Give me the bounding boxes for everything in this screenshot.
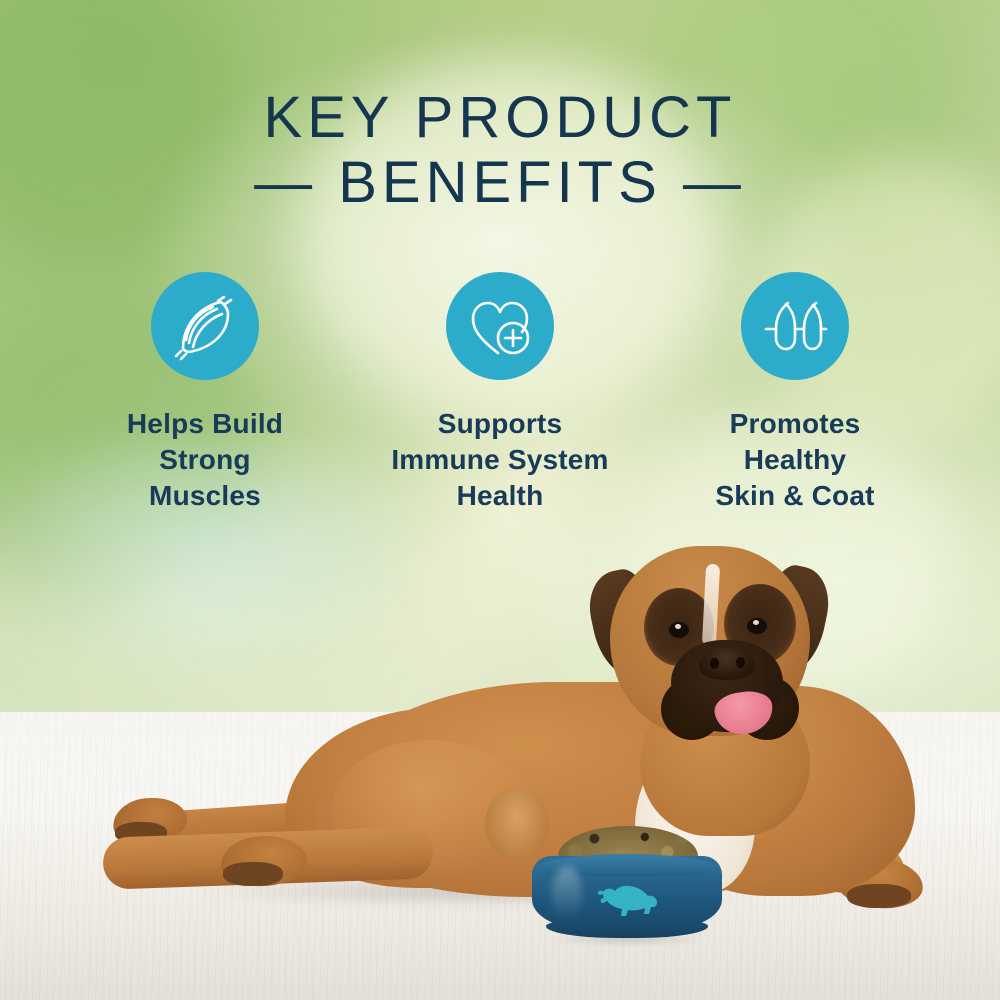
dog-nostril-right bbox=[736, 657, 745, 668]
bowl-highlight bbox=[552, 866, 582, 922]
benefit-label: Supports Immune System Health bbox=[355, 406, 645, 513]
benefits-row: Helps Build Strong Muscles Supports Immu… bbox=[60, 272, 940, 513]
boxer-dog-photo bbox=[95, 536, 925, 936]
dog-toes-near bbox=[223, 862, 283, 886]
heart-plus-icon bbox=[446, 272, 554, 380]
dog-eye-glint-left bbox=[675, 624, 681, 629]
dog-food-bowl bbox=[532, 826, 722, 942]
benefit-label: Helps Build Strong Muscles bbox=[60, 406, 350, 513]
promo-image-canvas: KEY PRODUCT — BENEFITS — Helps Build bbox=[0, 0, 1000, 1000]
dog-nostril-left bbox=[710, 658, 719, 669]
benefit-item-muscle: Helps Build Strong Muscles bbox=[60, 272, 350, 513]
benefit-item-immune: Supports Immune System Health bbox=[355, 272, 645, 513]
dog-nose bbox=[699, 648, 755, 680]
benefit-item-skin-coat: Promotes Healthy Skin & Coat bbox=[650, 272, 940, 513]
muscle-fiber-icon bbox=[151, 272, 259, 380]
title-line-1: KEY PRODUCT bbox=[0, 88, 1000, 147]
buffalo-logo bbox=[594, 878, 664, 918]
page-title: KEY PRODUCT — BENEFITS — bbox=[0, 88, 1000, 212]
dog-toes-right bbox=[847, 884, 911, 908]
dog-eye-glint-right bbox=[753, 620, 759, 625]
hair-follicle-icon bbox=[741, 272, 849, 380]
benefit-label: Promotes Healthy Skin & Coat bbox=[650, 406, 940, 513]
title-line-2: — BENEFITS — bbox=[0, 153, 1000, 212]
